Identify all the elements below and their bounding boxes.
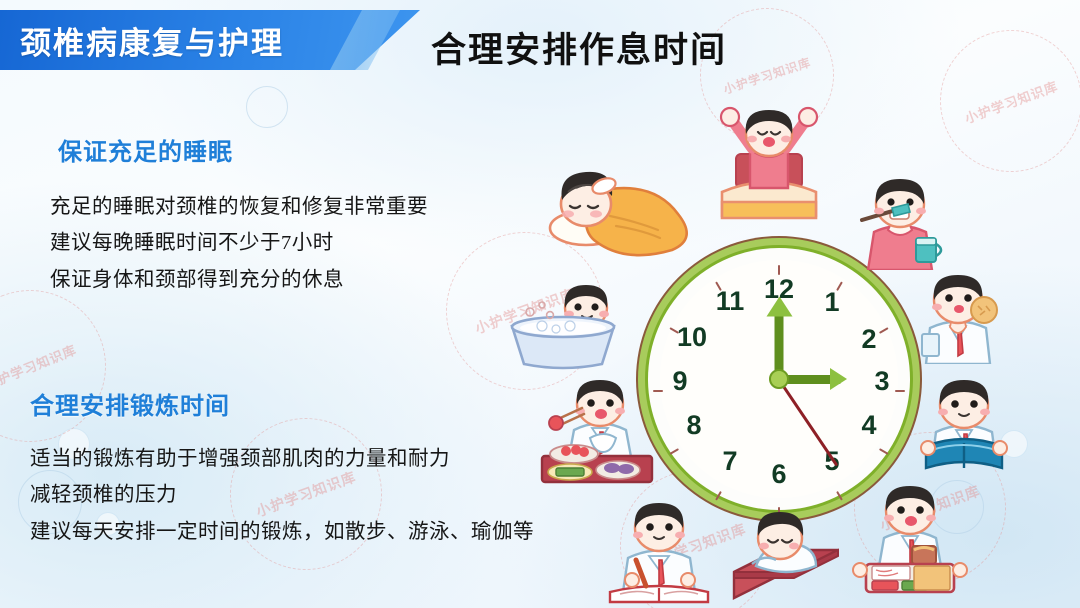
clock-face: 12 1 2 3 4 5 6 7 8 9 10 11 [660, 260, 898, 498]
section-sleep: 保证充足的睡眠 充足的睡眠对颈椎的恢复和修复非常重要 建议每晚睡眠时间不少于7小… [46, 132, 516, 298]
section-exercise: 合理安排锻炼时间 适当的锻炼有助于增强颈部肌肉的力量和耐力 减轻颈椎的压力 建议… [30, 386, 610, 550]
clock-center-pin [769, 369, 789, 389]
clock-numeral-4: 4 [849, 410, 889, 441]
section-sleep-body: 充足的睡眠对颈椎的恢复和修复非常重要 建议每晚睡眠时间不少于7小时 保证身体和颈… [46, 189, 516, 298]
section-sleep-line: 建议每晚睡眠时间不少于7小时 [50, 225, 516, 261]
clock-tick [879, 448, 889, 455]
clock-numeral-9: 9 [660, 366, 700, 397]
section-sleep-line: 充足的睡眠对颈椎的恢复和修复非常重要 [50, 189, 516, 225]
figure-lunch-tray-girl [848, 478, 972, 604]
clock-numeral-8: 8 [674, 410, 714, 441]
section-exercise-body: 适当的锻炼有助于增强颈部肌肉的力量和耐力 减轻颈椎的压力 建议每天安排一定时间的… [30, 441, 610, 550]
clock-numeral-3: 3 [862, 366, 902, 397]
figure-napping-girl [726, 496, 846, 604]
clock-numeral-6: 6 [759, 459, 799, 490]
figure-brushing-teeth-girl [848, 166, 952, 270]
clock-illustration: 12 1 2 3 4 5 6 7 8 9 10 11 [648, 248, 910, 510]
watermark-stamp: 小护学习知识库 [920, 10, 1080, 192]
clock-minute-hand [775, 303, 784, 379]
section-exercise-heading: 合理安排锻炼时间 [30, 386, 610, 421]
figure-studying-girl [600, 488, 718, 608]
figure-sleeping-girl [546, 152, 706, 262]
section-exercise-line: 建议每天安排一定时间的锻炼，如散步、游泳、瑜伽等 [30, 514, 610, 550]
ribbon-title: 颈椎病康复与护理 [0, 18, 284, 63]
clock-numeral-11: 11 [710, 286, 750, 317]
decor-bubble [246, 86, 288, 128]
section-sleep-line: 保证身体和颈部得到充分的休息 [50, 262, 516, 298]
figure-dinner-girl [534, 372, 660, 494]
clock-numeral-1: 1 [812, 287, 852, 318]
clock-numeral-7: 7 [710, 446, 750, 477]
watermark-text: 小护学习知识库 [962, 75, 1061, 126]
section-sleep-heading: 保证充足的睡眠 [46, 132, 516, 167]
section-exercise-line: 适当的锻炼有助于增强颈部肌肉的力量和耐力 [30, 441, 610, 477]
figure-eating-breakfast-girl [906, 260, 1010, 364]
figure-reading-book-girl [912, 368, 1016, 476]
clock-numeral-2: 2 [849, 324, 889, 355]
figure-waking-up-girl [706, 104, 832, 224]
slide-canvas: 小护学习知识库 小护学习知识库 小护学习知识库 小护学习知识库 小护学习知识库 … [0, 0, 1080, 608]
clock-tick [669, 448, 679, 455]
clock-second-hand [778, 378, 838, 466]
figure-bathing-girl [490, 272, 616, 372]
clock-numeral-10: 10 [672, 322, 712, 353]
page-title: 合理安排作息时间 [414, 22, 744, 73]
section-exercise-line: 减轻颈椎的压力 [30, 477, 610, 513]
